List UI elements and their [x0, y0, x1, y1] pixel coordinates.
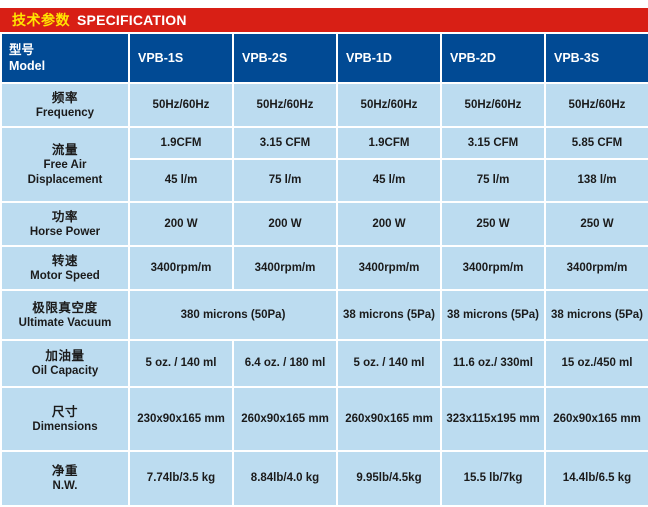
table-row-net-weight: 净重 N.W. 7.74lb/3.5 kg 8.84lb/4.0 kg 9.95… [2, 452, 648, 505]
row-label-oil-capacity-en: Oil Capacity [5, 364, 125, 379]
cell-free-air-lpm-vpb-1s: 45 l/m [130, 160, 232, 201]
cell-net-weight-vpb-2s: 8.84lb/4.0 kg [234, 452, 336, 505]
table-row-motor-speed: 转速 Motor Speed 3400rpm/m 3400rpm/m 3400r… [2, 247, 648, 289]
row-label-net-weight: 净重 N.W. [2, 452, 128, 505]
row-label-net-weight-cn: 净重 [5, 463, 125, 479]
cell-free-air-lpm-vpb-1d: 45 l/m [338, 160, 440, 201]
cell-free-air-lpm-vpb-2d: 75 l/m [442, 160, 544, 201]
cell-frequency-vpb-3s: 50Hz/60Hz [546, 84, 648, 126]
cell-ultimate-vacuum-vpb-3s: 38 microns (5Pa) [546, 291, 648, 339]
table-row-dimensions: 尺寸 Dimensions 230x90x165 mm 260x90x165 m… [2, 388, 648, 450]
header-model-vpb-2d: VPB-2D [442, 34, 544, 82]
cell-ultimate-vacuum-vpb-2d: 38 microns (5Pa) [442, 291, 544, 339]
cell-horse-power-vpb-1d: 200 W [338, 203, 440, 245]
cell-oil-capacity-vpb-3s: 15 oz./450 ml [546, 341, 648, 386]
row-label-frequency-en: Frequency [5, 106, 125, 121]
cell-dimensions-vpb-2s: 260x90x165 mm [234, 388, 336, 450]
cell-motor-speed-vpb-3s: 3400rpm/m [546, 247, 648, 289]
cell-oil-capacity-vpb-2s: 6.4 oz. / 180 ml [234, 341, 336, 386]
cell-horse-power-vpb-2s: 200 W [234, 203, 336, 245]
cell-oil-capacity-vpb-1d: 5 oz. / 140 ml [338, 341, 440, 386]
row-label-dimensions: 尺寸 Dimensions [2, 388, 128, 450]
header-model-vpb-2s: VPB-2S [234, 34, 336, 82]
table-row-oil-capacity: 加油量 Oil Capacity 5 oz. / 140 ml 6.4 oz. … [2, 341, 648, 386]
cell-free-air-lpm-vpb-2s: 75 l/m [234, 160, 336, 201]
table-row-horse-power: 功率 Horse Power 200 W 200 W 200 W 250 W 2… [2, 203, 648, 245]
cell-frequency-vpb-1d: 50Hz/60Hz [338, 84, 440, 126]
cell-dimensions-vpb-1s: 230x90x165 mm [130, 388, 232, 450]
row-label-net-weight-en: N.W. [5, 479, 125, 494]
row-label-horse-power: 功率 Horse Power [2, 203, 128, 245]
row-label-frequency: 频率 Frequency [2, 84, 128, 126]
cell-free-air-cfm-vpb-1s: 1.9CFM [130, 128, 232, 158]
cell-ultimate-vacuum-vpb-1s-2s: 380 microns (50Pa) [130, 291, 336, 339]
cell-free-air-cfm-vpb-2d: 3.15 CFM [442, 128, 544, 158]
cell-dimensions-vpb-2d: 323x115x195 mm [442, 388, 544, 450]
cell-motor-speed-vpb-2d: 3400rpm/m [442, 247, 544, 289]
row-label-free-air-displacement: 流量 Free Air Displacement [2, 128, 128, 201]
row-label-frequency-cn: 频率 [5, 90, 125, 106]
cell-frequency-vpb-2s: 50Hz/60Hz [234, 84, 336, 126]
cell-free-air-cfm-vpb-3s: 5.85 CFM [546, 128, 648, 158]
title-bar: 技术参数 SPECIFICATION [0, 8, 648, 32]
title-chinese: 技术参数 [12, 13, 70, 27]
cell-net-weight-vpb-2d: 15.5 lb/7kg [442, 452, 544, 505]
cell-horse-power-vpb-3s: 250 W [546, 203, 648, 245]
cell-dimensions-vpb-3s: 260x90x165 mm [546, 388, 648, 450]
cell-oil-capacity-vpb-2d: 11.6 oz./ 330ml [442, 341, 544, 386]
cell-net-weight-vpb-3s: 14.4lb/6.5 kg [546, 452, 648, 505]
row-label-oil-capacity-cn: 加油量 [5, 348, 125, 364]
table-header-row: 型号 Model VPB-1S VPB-2S VPB-1D VPB-2D VPB… [2, 34, 648, 82]
cell-net-weight-vpb-1s: 7.74lb/3.5 kg [130, 452, 232, 505]
row-label-motor-speed: 转速 Motor Speed [2, 247, 128, 289]
cell-frequency-vpb-2d: 50Hz/60Hz [442, 84, 544, 126]
cell-motor-speed-vpb-1d: 3400rpm/m [338, 247, 440, 289]
specification-sheet: 技术参数 SPECIFICATION 型号 Model VPB-1S VPB-2… [0, 0, 648, 489]
cell-dimensions-vpb-1d: 260x90x165 mm [338, 388, 440, 450]
row-label-oil-capacity: 加油量 Oil Capacity [2, 341, 128, 386]
header-model-vpb-3s: VPB-3S [546, 34, 648, 82]
row-label-free-air-displacement-cn: 流量 [5, 142, 125, 158]
table-row-ultimate-vacuum: 极限真空度 Ultimate Vacuum 380 microns (50Pa)… [2, 291, 648, 339]
cell-horse-power-vpb-1s: 200 W [130, 203, 232, 245]
title-english: SPECIFICATION [77, 13, 187, 27]
row-label-dimensions-cn: 尺寸 [5, 404, 125, 420]
cell-motor-speed-vpb-1s: 3400rpm/m [130, 247, 232, 289]
row-label-ultimate-vacuum: 极限真空度 Ultimate Vacuum [2, 291, 128, 339]
row-label-dimensions-en: Dimensions [5, 420, 125, 435]
cell-motor-speed-vpb-2s: 3400rpm/m [234, 247, 336, 289]
row-label-ultimate-vacuum-cn: 极限真空度 [5, 300, 125, 316]
cell-horse-power-vpb-2d: 250 W [442, 203, 544, 245]
cell-free-air-lpm-vpb-3s: 138 l/m [546, 160, 648, 201]
cell-oil-capacity-vpb-1s: 5 oz. / 140 ml [130, 341, 232, 386]
header-model-label: 型号 Model [2, 34, 128, 82]
cell-ultimate-vacuum-vpb-1d: 38 microns (5Pa) [338, 291, 440, 339]
cell-frequency-vpb-1s: 50Hz/60Hz [130, 84, 232, 126]
header-model-label-en: Model [9, 58, 125, 74]
row-label-free-air-displacement-en-line2: Displacement [5, 173, 125, 188]
row-label-ultimate-vacuum-en: Ultimate Vacuum [5, 316, 125, 331]
cell-free-air-cfm-vpb-1d: 1.9CFM [338, 128, 440, 158]
table-row-frequency: 频率 Frequency 50Hz/60Hz 50Hz/60Hz 50Hz/60… [2, 84, 648, 126]
header-model-vpb-1d: VPB-1D [338, 34, 440, 82]
cell-free-air-cfm-vpb-2s: 3.15 CFM [234, 128, 336, 158]
header-model-vpb-1s: VPB-1S [130, 34, 232, 82]
row-label-free-air-displacement-en-line1: Free Air [5, 158, 125, 173]
row-label-motor-speed-en: Motor Speed [5, 269, 125, 284]
cell-net-weight-vpb-1d: 9.95lb/4.5kg [338, 452, 440, 505]
row-label-horse-power-cn: 功率 [5, 209, 125, 225]
header-model-label-cn: 型号 [9, 42, 125, 58]
specification-table: 型号 Model VPB-1S VPB-2S VPB-1D VPB-2D VPB… [0, 32, 648, 507]
row-label-motor-speed-cn: 转速 [5, 253, 125, 269]
row-label-horse-power-en: Horse Power [5, 225, 125, 240]
table-row-free-air-displacement-cfm: 流量 Free Air Displacement 1.9CFM 3.15 CFM… [2, 128, 648, 158]
